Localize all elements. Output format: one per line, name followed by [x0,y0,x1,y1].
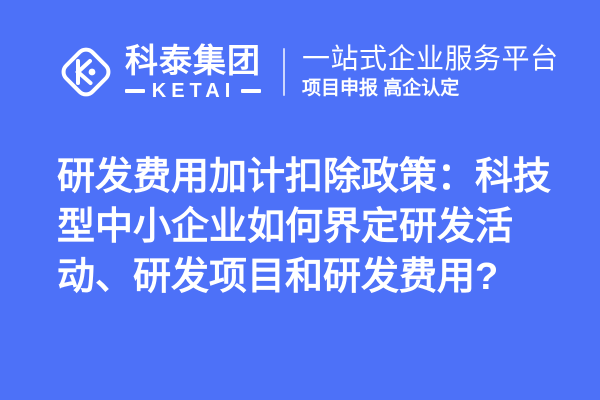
tagline-sub: 项目申报 高企认定 [302,78,559,100]
article-banner: 科泰集团 KETAI 一站式企业服务平台 项目申报 高企认定 研发费用加计扣除政… [0,0,600,400]
ketai-monogram-icon [56,42,116,102]
logo-dash-right [241,89,261,93]
page-title: 研发费用加计扣除政策：科技型中小企业如何界定研发活动、研发项目和研发费用? [57,152,569,302]
logo-company-name-cn: 科泰集团 [125,44,261,78]
logo-latin-row: KETAI [125,81,261,101]
logo-wordmark: 科泰集团 KETAI [125,44,261,101]
tagline-main: 一站式企业服务平台 [302,44,559,74]
header-divider [283,48,285,96]
brand-header: 科泰集团 KETAI 一站式企业服务平台 项目申报 高企认定 [56,34,559,110]
logo-company-name-latin: KETAI [145,81,242,101]
logo-dash-left [125,89,145,93]
tagline-block: 一站式企业服务平台 项目申报 高企认定 [302,44,559,100]
